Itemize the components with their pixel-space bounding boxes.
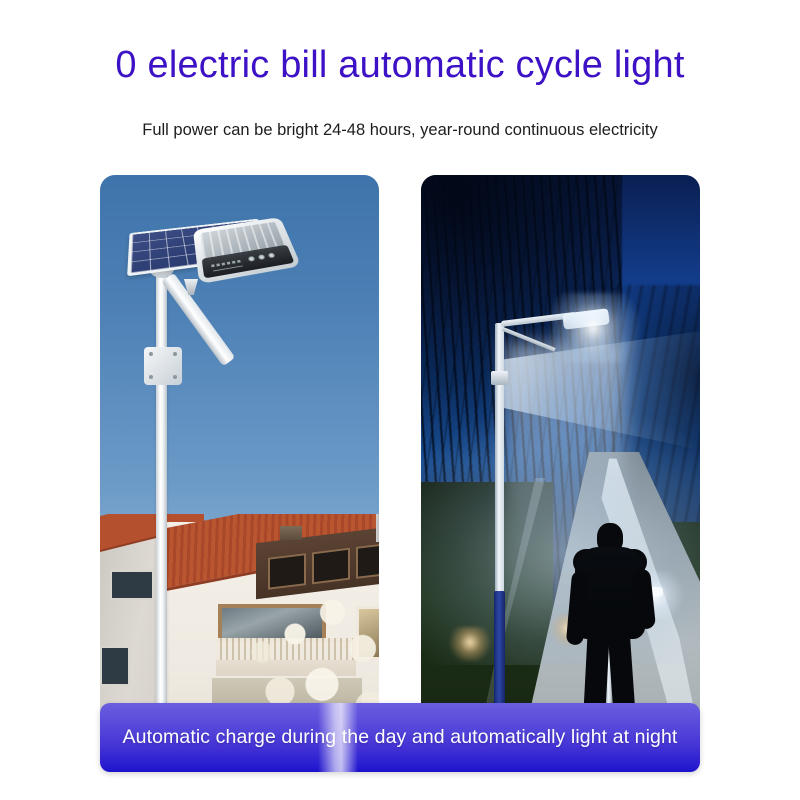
page-title: 0 electric bill automatic cycle light: [0, 44, 800, 87]
window: [110, 570, 154, 600]
night-lamp-clamp: [491, 371, 508, 385]
dormer-window: [356, 542, 379, 579]
lamp-pole: [156, 267, 167, 772]
image-gallery: [100, 175, 700, 772]
product-photo-daytime[interactable]: [100, 175, 379, 772]
chimney-block: [280, 526, 302, 540]
feature-banner-text: Automatic charge during the day and auto…: [123, 726, 678, 749]
lamp-glow: [551, 293, 651, 363]
lamp-label: [211, 260, 243, 268]
indicator-led: [258, 254, 266, 260]
dormer-window: [312, 548, 350, 585]
indicator-led: [248, 256, 255, 262]
product-promo-page: 0 electric bill automatic cycle light Fu…: [0, 0, 800, 800]
product-photo-night[interactable]: [421, 175, 700, 772]
page-subtitle: Full power can be bright 24-48 hours, ye…: [0, 121, 800, 140]
feature-banner: Automatic charge during the day and auto…: [100, 703, 700, 772]
indicator-led: [268, 253, 276, 259]
chimney-pipe: [376, 514, 379, 542]
window: [100, 646, 130, 686]
pole-mount-bracket: [144, 347, 182, 385]
distant-lamp-glow: [447, 627, 493, 661]
